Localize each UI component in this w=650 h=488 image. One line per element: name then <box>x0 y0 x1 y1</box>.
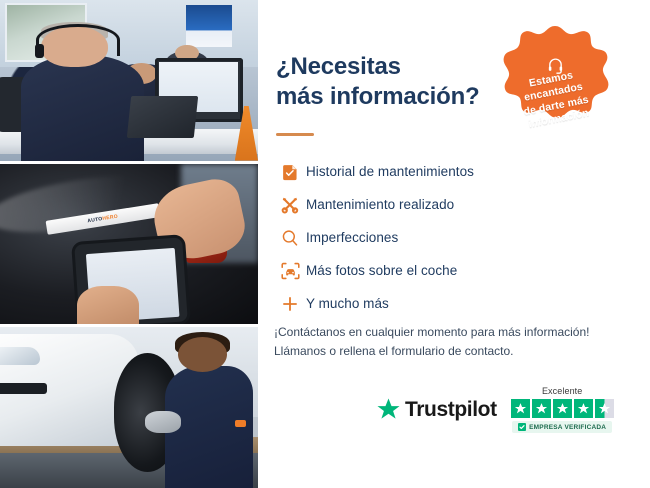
feature-item-maintenance-history: Historial de mantenimientos <box>274 155 574 188</box>
verified-label: EMPRESA VERIFICADA <box>529 424 606 431</box>
decor-person-foreground <box>21 55 145 161</box>
star-4 <box>574 399 593 418</box>
feature-item-much-more: Y mucho más <box>274 287 574 320</box>
ruler-brand-hero: HERO <box>103 214 119 222</box>
feature-item-imperfections: Imperfecciones <box>274 221 574 254</box>
decor-glove <box>145 411 181 433</box>
trustpilot-wordmark: Trustpilot <box>405 398 497 422</box>
paragraph-line-1: ¡Contáctanos en cualquier momento para m… <box>274 323 634 342</box>
photo-inspection: AUTOHERO <box>0 164 258 325</box>
feature-item-maintenance-done: Mantenimiento realizado <box>274 188 574 221</box>
tools-cross-icon <box>274 196 306 214</box>
decor-laptop <box>127 96 198 138</box>
decor-technician-head <box>178 337 227 372</box>
magnifier-icon <box>274 229 306 247</box>
promo-banner: AUTOHERO ¿Necesitas <box>0 0 650 488</box>
headline-line-2: más información? <box>276 82 531 112</box>
star-rating <box>511 399 614 418</box>
feature-label: Historial de mantenimientos <box>306 164 474 179</box>
rating-label: Excelente <box>542 386 582 396</box>
feature-list: Historial de mantenimientos M <box>274 155 574 320</box>
feature-item-more-photos: Más fotos sobre el coche <box>274 254 574 287</box>
trustpilot-widget[interactable]: Trustpilot Excelente EMPRESA VERIFICADA <box>376 386 614 433</box>
star-3 <box>553 399 572 418</box>
star-5-half <box>595 399 614 418</box>
verified-badge: EMPRESA VERIFICADA <box>512 421 612 433</box>
page-title: ¿Necesitas más información? <box>276 52 531 112</box>
decor-shirt-logo <box>235 420 246 427</box>
feature-label: Imperfecciones <box>306 230 398 245</box>
photo-column: AUTOHERO <box>0 0 258 488</box>
ruler-brand-auto: AUTO <box>87 216 103 224</box>
content-panel: ¿Necesitas más información? Estamos enca… <box>258 0 650 488</box>
trustpilot-logo[interactable]: Trustpilot <box>376 397 497 422</box>
document-check-icon <box>274 163 306 181</box>
car-scan-icon <box>274 262 306 280</box>
feature-label: Más fotos sobre el coche <box>306 263 457 278</box>
contact-paragraph: ¡Contáctanos en cualquier momento para m… <box>274 323 634 362</box>
feature-label: Y mucho más <box>306 296 389 311</box>
decor-hand-lower <box>77 286 139 325</box>
decor-headlight <box>0 347 40 365</box>
plus-icon <box>274 295 306 313</box>
photo-call-center <box>0 0 258 161</box>
title-divider <box>276 133 314 136</box>
trustpilot-star-icon <box>376 397 401 422</box>
decor-grille <box>0 383 47 394</box>
star-2 <box>532 399 551 418</box>
paragraph-line-2: Llámanos o rellena el formulario de cont… <box>274 342 634 361</box>
headline-line-1: ¿Necesitas <box>276 52 531 82</box>
check-icon <box>518 423 526 431</box>
trustpilot-rating: Excelente EMPRESA VERIFICADA <box>511 386 614 433</box>
feature-label: Mantenimiento realizado <box>306 197 454 212</box>
photo-workshop-wheel <box>0 327 258 488</box>
decor-headset <box>36 24 119 56</box>
decor-poster <box>186 5 232 47</box>
starburst-badge: Estamos encantados de darte más informac… <box>496 24 614 146</box>
star-1 <box>511 399 530 418</box>
